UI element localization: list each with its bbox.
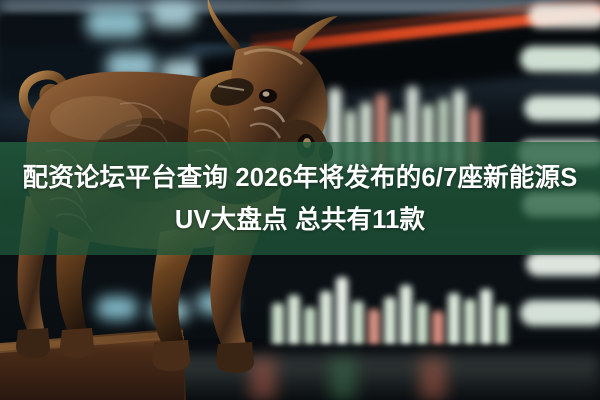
volume-bar <box>496 305 508 347</box>
bull-hoof-2 <box>60 328 94 358</box>
banner-image: 配资论坛平台查询 2026年将发布的6/7座新能源S UV大盘点 总共有11款 <box>0 0 600 400</box>
volume-bar <box>480 289 492 347</box>
caption-line-1: 配资论坛平台查询 2026年将发布的6/7座新能源S <box>23 158 578 198</box>
floor-reflection-red-2 <box>420 358 446 400</box>
volume-bar <box>464 299 476 347</box>
quote-row <box>528 4 600 28</box>
volume-bar <box>352 301 364 347</box>
quote-row <box>520 46 600 72</box>
volume-bar <box>432 311 444 347</box>
volume-bar <box>416 303 428 347</box>
volume-bar <box>400 285 412 347</box>
caption-text-block: 配资论坛平台查询 2026年将发布的6/7座新能源S UV大盘点 总共有11款 <box>0 142 600 255</box>
volume-bar <box>448 293 460 347</box>
bull-hoof-1 <box>16 328 50 358</box>
bull-horn-left <box>208 0 243 58</box>
bull-hoof-4 <box>216 342 254 373</box>
volume-bar <box>368 309 380 347</box>
volume-bar <box>384 297 396 347</box>
quote-row <box>526 252 600 276</box>
quote-row <box>524 96 600 121</box>
quote-row <box>520 300 600 326</box>
caption-line-2: UV大盘点 总共有11款 <box>175 200 425 240</box>
bull-hoof-3 <box>152 340 190 371</box>
